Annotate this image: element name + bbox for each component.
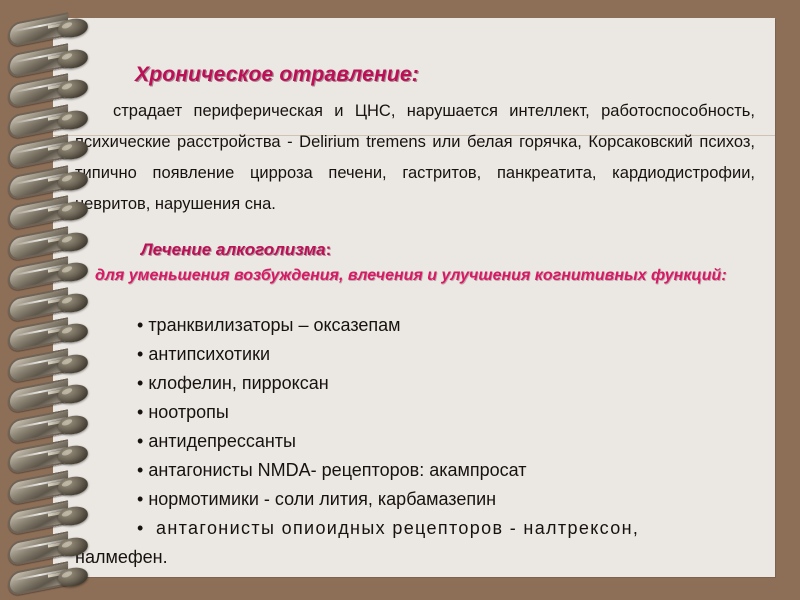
slide-canvas: Хроническое отравление: страдает перифер… — [0, 0, 800, 600]
spiral-coil-icon — [8, 47, 100, 73]
paragraph-text: страдает периферическая и ЦНС, нарушаетс… — [75, 102, 755, 213]
list-item: •транквилизаторы – оксазепам — [75, 311, 765, 340]
spiral-coil-icon — [8, 260, 100, 286]
list-item: •клофелин, пирроксан — [75, 369, 765, 398]
list-item: • антагонисты опиоидных рецепторов - нал… — [75, 514, 765, 543]
section-title-colon: : — [326, 240, 332, 259]
spiral-coil-icon — [8, 199, 100, 225]
spiral-coil-icon — [8, 443, 100, 469]
list-item: •антипсихотики — [75, 340, 765, 369]
bullet-marker-icon: • — [137, 344, 143, 364]
spiral-coil-icon — [8, 169, 100, 195]
list-item-label: антипсихотики — [148, 344, 270, 364]
paragraph-chronic-poisoning: страдает периферическая и ЦНС, нарушаетс… — [75, 96, 755, 220]
treatment-bullet-list: •транквилизаторы – оксазепам •антипсихот… — [75, 311, 765, 572]
bullet-marker-icon: • — [137, 518, 145, 538]
list-item-label: антагонисты NMDA- рецепторов: акампросат — [148, 460, 526, 480]
list-item-label: транквилизаторы – оксазепам — [148, 315, 400, 335]
spiral-binding — [0, 0, 110, 600]
list-item-label: антагонисты опиоидных рецепторов - налтр… — [156, 518, 639, 538]
spiral-coil-icon — [8, 474, 100, 500]
list-item: •нормотимики - соли лития, карбамазепин — [75, 485, 765, 514]
spiral-coil-icon — [8, 504, 100, 530]
spiral-coil-icon — [8, 565, 100, 591]
bullet-marker-icon: • — [137, 402, 143, 422]
list-item: •антидепрессанты — [75, 427, 765, 456]
section-title-text: Лечение алкоголизма — [141, 240, 326, 259]
list-item-label: клофелин, пирроксан — [148, 373, 328, 393]
list-item-label: антидепрессанты — [148, 431, 296, 451]
spiral-coil-icon — [8, 138, 100, 164]
bullet-marker-icon: • — [137, 373, 143, 393]
list-item-continuation: налмефен. — [75, 543, 765, 572]
list-item-label: ноотропы — [148, 402, 229, 422]
spiral-coil-icon — [8, 352, 100, 378]
bullet-marker-icon: • — [137, 431, 143, 451]
spiral-coil-icon — [8, 108, 100, 134]
spiral-coil-icon — [8, 321, 100, 347]
bullet-marker-icon: • — [137, 460, 143, 480]
page-content: Хроническое отравление: страдает перифер… — [53, 18, 775, 577]
spiral-coil-icon — [8, 535, 100, 561]
list-item: •антагонисты NMDA- рецепторов: акампроса… — [75, 456, 765, 485]
spiral-coil-icon — [8, 16, 100, 42]
spiral-coil-icon — [8, 291, 100, 317]
spiral-coil-icon — [8, 382, 100, 408]
section-subtitle-text: для уменьшения возбуждения, влечения и у… — [95, 267, 727, 284]
spiral-coil-icon — [8, 413, 100, 439]
spiral-coil-icon — [8, 230, 100, 256]
bullet-marker-icon: • — [137, 315, 143, 335]
bullet-marker-icon: • — [137, 489, 143, 509]
notebook-page: Хроническое отравление: страдает перифер… — [53, 18, 775, 577]
list-item: •ноотропы — [75, 398, 765, 427]
list-item-label: нормотимики - соли лития, карбамазепин — [148, 489, 496, 509]
page-title-chronic-poisoning: Хроническое отравление: — [135, 63, 419, 87]
section-subtitle-treatment: для уменьшения возбуждения, влечения и у… — [75, 265, 765, 287]
section-title-treatment: Лечение алкоголизма: — [141, 240, 331, 260]
spiral-coil-icon — [8, 77, 100, 103]
